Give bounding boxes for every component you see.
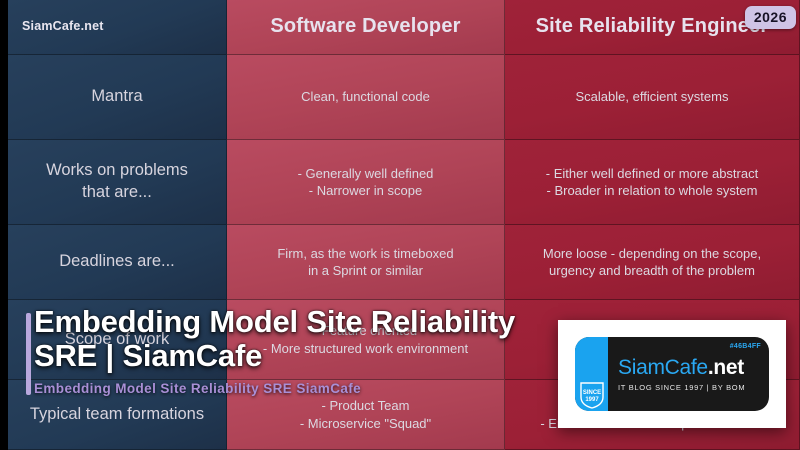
cell-line: - Feature oriented	[314, 322, 417, 339]
row-label: Deadlines are...	[59, 251, 175, 273]
table-row-label-deadlines: Deadlines are...	[8, 225, 227, 300]
table-cell-problems-dev: - Generally well defined - Narrower in s…	[227, 140, 505, 225]
row-label: Mantra	[91, 86, 142, 108]
cell-line: Clean, functional code	[301, 88, 430, 105]
logo-body: #46B4FF SiamCafe.net IT BLOG SINCE 1997 …	[608, 337, 769, 411]
shield-icon: SINCE 1997	[579, 381, 605, 409]
table-cell-teams-dev: - Product Team - Microservice "Squad"	[227, 380, 505, 450]
year-badge-label: 2026	[754, 9, 787, 25]
table-cell-scope-dev: - Feature oriented - More structured wor…	[227, 300, 505, 380]
table-cell-problems-sre: - Either well defined or more abstract -…	[505, 140, 800, 225]
cell-line: - More structured work environment	[263, 340, 468, 357]
year-badge: 2026	[745, 6, 796, 29]
slide-canvas: SiamCafe.net Software Developer Site Rel…	[0, 0, 800, 450]
header-label: Site Reliability Engineer	[536, 13, 769, 39]
table-row-label-scope-of-work: Scope of work	[8, 300, 227, 380]
cell-line: More loose - depending on the scope,	[543, 245, 761, 262]
logo-name-primary: SiamCafe	[618, 356, 708, 379]
table-row-label-team-formations: Typical team formations	[8, 380, 227, 450]
left-black-rail	[0, 0, 8, 450]
logo-name-suffix: .net	[708, 356, 744, 379]
row-label: Scope of work	[65, 329, 170, 351]
logo-wordmark: SiamCafe.net	[618, 357, 769, 378]
header-label: Software Developer	[270, 13, 460, 39]
table-row-label-mantra: Mantra	[8, 55, 227, 140]
logo-hex-code: #46B4FF	[730, 343, 761, 350]
cell-line: - Narrower in scope	[309, 182, 422, 199]
logo-pill: SINCE 1997 #46B4FF SiamCafe.net IT BLOG …	[575, 337, 769, 411]
cell-line: Firm, as the work is timeboxed	[277, 245, 453, 262]
row-label-line1: Works on problems	[46, 160, 188, 182]
table-cell-deadlines-sre: More loose - depending on the scope, urg…	[505, 225, 800, 300]
table-row-label-works-on-problems: Works on problems that are...	[8, 140, 227, 225]
table-cell-mantra-dev: Clean, functional code	[227, 55, 505, 140]
table-cell-mantra-sre: Scalable, efficient systems	[505, 55, 800, 140]
cell-line: - Generally well defined	[298, 165, 434, 182]
cell-line: in a Sprint or similar	[308, 262, 423, 279]
row-label-line2: that are...	[82, 182, 152, 204]
cell-line: - Either well defined or more abstract	[546, 165, 758, 182]
logo-blue-stripe: SINCE 1997	[575, 337, 608, 411]
table-header-software-developer: Software Developer	[227, 0, 505, 55]
shield-line-1: SINCE	[583, 390, 601, 396]
cell-line: Scalable, efficient systems	[576, 88, 729, 105]
cell-line: - Microservice "Squad"	[300, 415, 431, 432]
cell-line: urgency and breadth of the problem	[549, 262, 755, 279]
cell-line: - Broader in relation to whole system	[547, 182, 758, 199]
table-cell-deadlines-dev: Firm, as the work is timeboxed in a Spri…	[227, 225, 505, 300]
brand-watermark: SiamCafe.net	[22, 18, 104, 35]
table-header-brand: SiamCafe.net	[8, 0, 227, 55]
row-label: Typical team formations	[30, 404, 204, 426]
logo-tagline: IT BLOG SINCE 1997 | BY BOM	[618, 383, 769, 392]
siamcafe-logo-card: SINCE 1997 #46B4FF SiamCafe.net IT BLOG …	[558, 320, 786, 428]
shield-line-2: 1997	[585, 397, 599, 403]
cell-line: - Product Team	[322, 397, 410, 414]
